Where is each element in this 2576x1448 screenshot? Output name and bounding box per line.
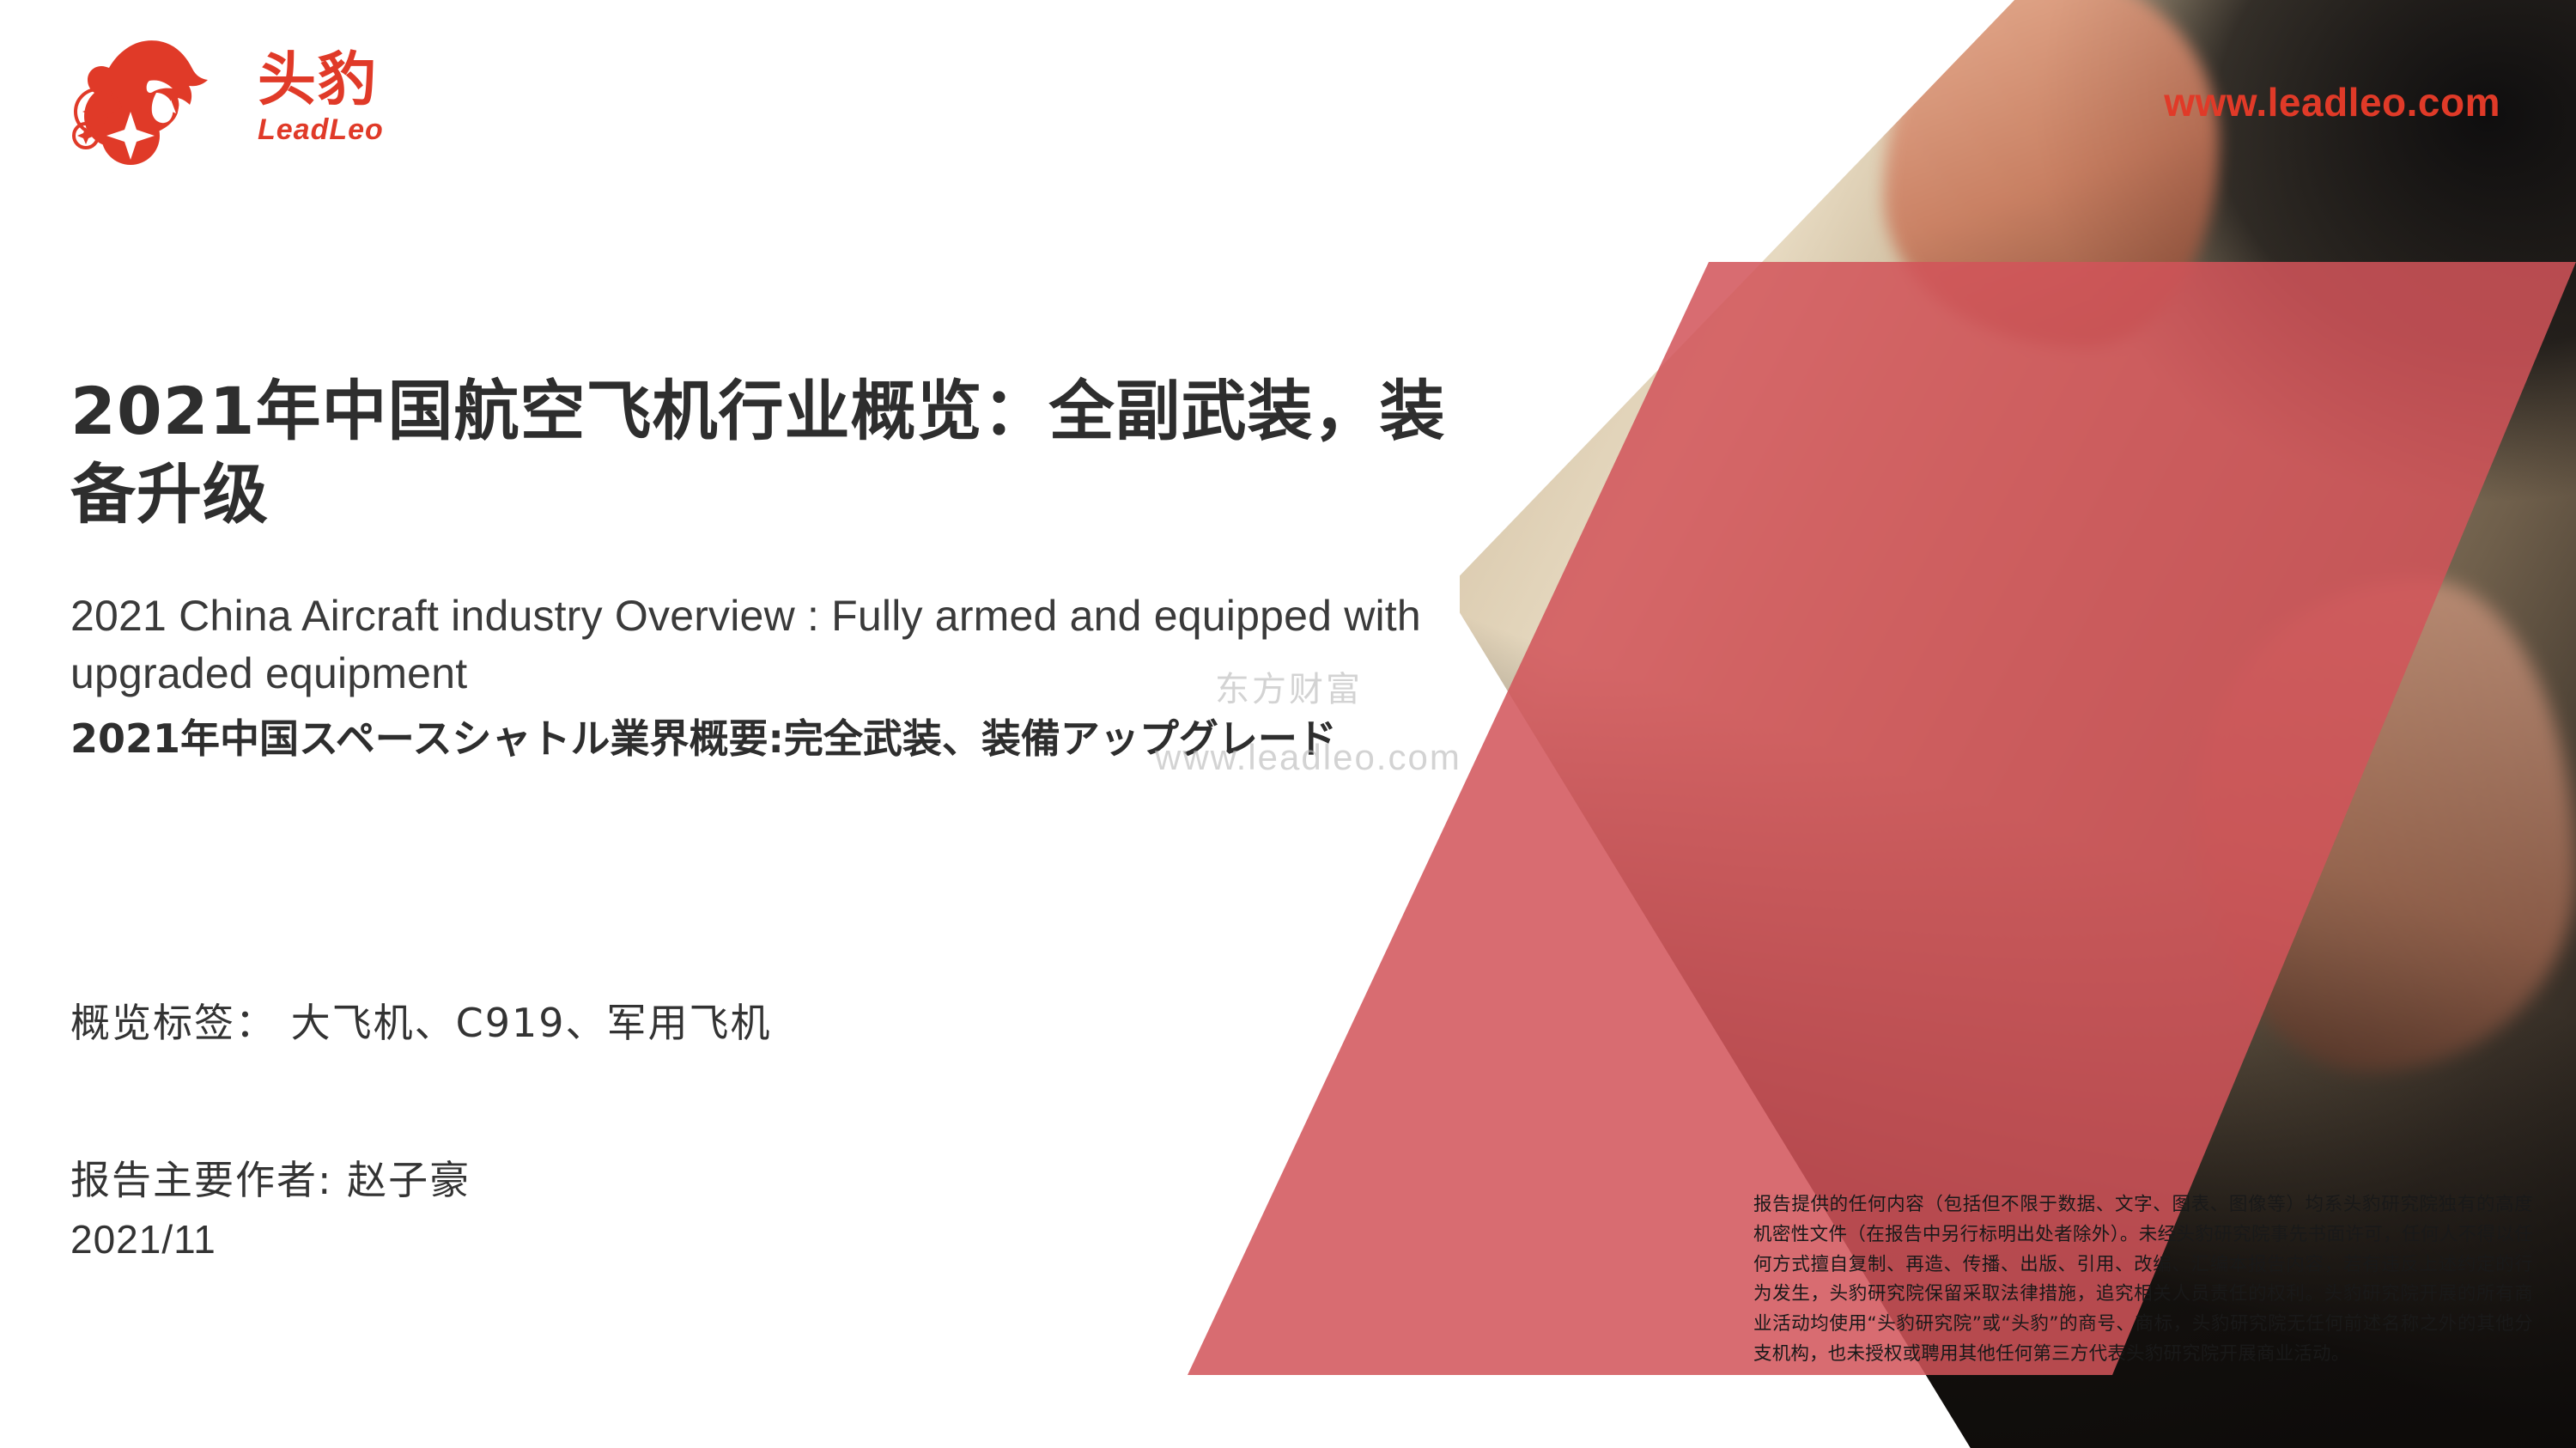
brand-logo[interactable]: 头豹 LeadLeo — [67, 29, 384, 167]
brand-name-cn: 头豹 — [258, 52, 378, 110]
watermark-cn: 东方财富 — [1215, 661, 1363, 711]
watermark-url: www.leadleo.com — [1155, 737, 1461, 778]
report-date: 2021/11 — [70, 1210, 471, 1269]
brand-name-en: LeadLeo — [258, 115, 384, 144]
overview-tags: 概览标签： 大飞机、C919、军用飞机 — [70, 992, 772, 1049]
author-block: 报告主要作者: 赵子豪 2021/11 — [70, 1151, 471, 1269]
site-url[interactable]: www.leadleo.com — [2164, 79, 2500, 125]
legal-disclaimer: 报告提供的任何内容（包括但不限于数据、文字、图表、图像等）均系头豹研究院独有的高… — [1753, 1190, 2533, 1370]
blurred-hand-shape-secondary — [2196, 579, 2576, 1071]
leopard-head-icon — [67, 29, 239, 167]
author-line: 报告主要作者: 赵子豪 — [70, 1151, 471, 1210]
page-title: 2021年中国航空飞机行业概览：全副武装，装备升级 — [70, 369, 1479, 537]
